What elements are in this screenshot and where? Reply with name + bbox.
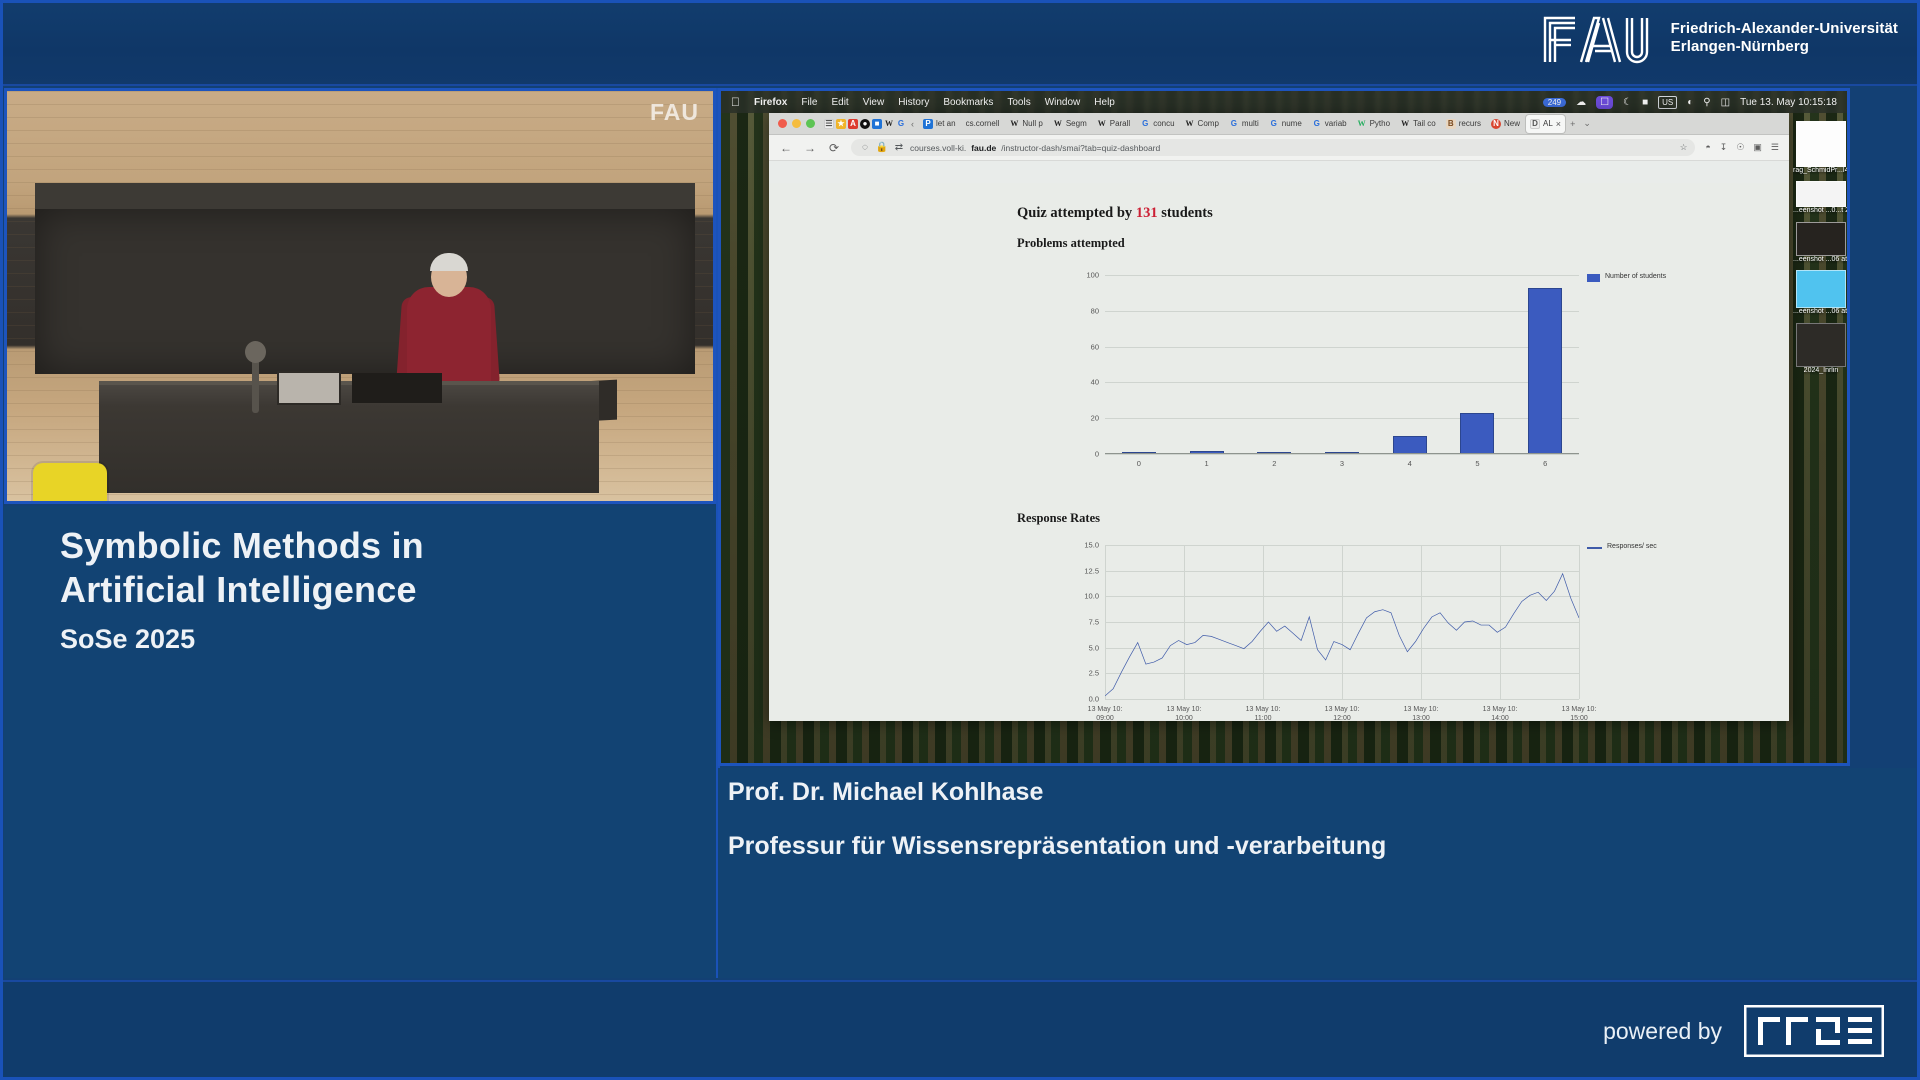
bar-chart-legend: Number of students — [1587, 273, 1687, 282]
quiz-student-count: 131 — [1136, 205, 1158, 221]
y-tick-label: 80 — [1091, 306, 1099, 315]
tab-parall[interactable]: WParall — [1093, 115, 1134, 133]
bar-column: 3 — [1308, 275, 1376, 454]
bar[interactable] — [1528, 288, 1562, 454]
tab-favicon: N — [1491, 119, 1501, 129]
legend-label: Responses/ sec — [1607, 543, 1657, 550]
y-tick-label: 5.0 — [1089, 643, 1099, 652]
tab-favicon: W — [1097, 119, 1107, 129]
search-icon[interactable]: ⚲ — [1703, 97, 1710, 108]
close-tab-icon[interactable]: × — [1556, 119, 1561, 129]
y-tick-label: 15.0 — [1084, 541, 1099, 550]
x-tick-label: 3 — [1340, 459, 1344, 468]
legend-label: Number of students — [1605, 273, 1666, 280]
speaker-block: Prof. Dr. Michael Kohlhase Professur für… — [718, 768, 1916, 978]
tab-null-p[interactable]: WNull p — [1005, 115, 1046, 133]
screen-share[interactable]:  Firefox File Edit View History Bookmar… — [718, 88, 1850, 766]
cloud-sync-icon[interactable]: ☁ — [1576, 97, 1586, 108]
back-button[interactable]: ← — [779, 141, 793, 155]
window-traffic-lights[interactable] — [773, 119, 822, 128]
lecturer-video[interactable]: FAU — [4, 88, 716, 504]
tab-label: nume — [1282, 119, 1302, 128]
url-host: fau.de — [971, 143, 996, 153]
tab-pytho[interactable]: WPytho — [1353, 115, 1394, 133]
tab-favicon: G — [1312, 119, 1322, 129]
video-watermark: FAU — [650, 99, 699, 126]
pinned-tab-4-icon[interactable]: ■ — [872, 119, 882, 129]
blackboard — [35, 209, 695, 374]
desktop-icon-pdf[interactable]: rag_SchmidPr...I4AI.pdf — [1795, 121, 1847, 175]
tab-favicon: W — [1009, 119, 1019, 129]
line-chart-plot: 0.02.55.07.510.012.515.013 May 10:09:001… — [1105, 545, 1579, 699]
bar[interactable] — [1393, 436, 1427, 454]
y-tick-label: 0.0 — [1089, 695, 1099, 704]
chevron-down-icon[interactable]: ⌄ — [1580, 118, 1594, 129]
y-tick-label: 2.5 — [1089, 669, 1099, 678]
gridline — [1579, 545, 1580, 699]
tab-new[interactable]: NNew — [1487, 115, 1524, 133]
tab-label: Null p — [1022, 119, 1042, 128]
tab-cs-cornell[interactable]: cs.cornell — [962, 115, 1004, 133]
tab-recurs[interactable]: Brecurs — [1442, 115, 1485, 133]
menu-icon[interactable]: ☰ — [1771, 142, 1779, 153]
course-title: Symbolic Methods in Artificial Intellige… — [60, 524, 660, 612]
input-source-indicator[interactable]: US — [1658, 96, 1677, 109]
y-tick-label: 100 — [1086, 271, 1099, 280]
url-path: /instructor-dash/smai?tab=quiz-dashboard — [1001, 143, 1160, 153]
x-tick-label: 1 — [1204, 459, 1208, 468]
tab-label: New — [1504, 119, 1520, 128]
menu-history[interactable]: History — [898, 97, 929, 108]
screen-share-icon[interactable]: ☐ — [1596, 96, 1613, 109]
bar-column: 4 — [1376, 275, 1444, 454]
bar-chart-plot: 020406080100 0123456 — [1105, 275, 1579, 454]
address-bar[interactable]: ◌ 🔒 ⇄ courses.voll-ki.fau.de/instructor-… — [851, 139, 1695, 156]
line-chart-series — [1105, 545, 1579, 699]
firefox-window[interactable]: ☰ ★ A ● ■ W G ‹ Plet an cs.cornell WNull… — [769, 113, 1789, 721]
tab-comp[interactable]: WComp — [1181, 115, 1223, 133]
gridline — [1105, 454, 1579, 455]
pinned-tab-1-icon[interactable]: ★ — [836, 119, 846, 129]
legend-swatch — [1587, 274, 1600, 282]
university-line-1: Friedrich-Alexander-Universität — [1671, 20, 1898, 38]
tab-al-active[interactable]: DAL× — [1526, 115, 1565, 133]
quiz-heading-prefix: Quiz attempted by — [1017, 205, 1136, 221]
bar-chart-x-axis — [1105, 453, 1579, 454]
maximize-window-button[interactable] — [806, 119, 815, 128]
reload-button[interactable]: ⟳ — [827, 141, 841, 155]
document-thumbnail — [1796, 121, 1846, 167]
bar-column: 1 — [1173, 275, 1241, 454]
top-banner: Friedrich-Alexander-Universität Erlangen… — [0, 0, 1920, 86]
pinned-tab-5-icon[interactable]: W — [884, 119, 894, 129]
rrze-logo-icon — [1744, 1005, 1884, 1057]
tab-label: concu — [1153, 119, 1174, 128]
x-tick-label: 5 — [1475, 459, 1479, 468]
course-title-line-2: Artificial Intelligence — [60, 568, 660, 612]
tab-label: AL — [1543, 119, 1553, 128]
tab-label: recurs — [1459, 119, 1481, 128]
menu-view[interactable]: View — [863, 97, 885, 108]
menu-bookmarks[interactable]: Bookmarks — [943, 97, 993, 108]
menu-tools[interactable]: Tools — [1007, 97, 1030, 108]
x-tick-label: 6 — [1543, 459, 1547, 468]
chair — [33, 463, 107, 504]
y-tick-label: 20 — [1091, 414, 1099, 423]
blue-thumbnail — [1796, 323, 1846, 367]
tab-favicon: P — [923, 119, 933, 129]
response-rates-title: Response Rates — [1017, 511, 1100, 526]
pinned-tab-2-icon[interactable]: A — [848, 119, 858, 129]
x-tick-label: 13 May 10:10:00 — [1167, 705, 1202, 721]
bar-column: 2 — [1240, 275, 1308, 454]
tab-favicon: W — [1357, 119, 1367, 129]
x-tick-label: 2 — [1272, 459, 1276, 468]
url-prefix: courses.voll-ki. — [910, 143, 966, 153]
bar-column: 0 — [1105, 275, 1173, 454]
desktop-icon-label: ...eenshot ...06 at 14.36.55 — [1793, 256, 1849, 264]
tab-strip[interactable]: ☰ ★ A ● ■ W G ‹ Plet an cs.cornell WNull… — [769, 113, 1789, 135]
desktop-icon-screenshot-2[interactable]: ...eenshot ...06 at 14.36.55 — [1795, 222, 1847, 264]
x-tick-label: 13 May 10:13:00 — [1404, 705, 1439, 721]
desktop-icon-folder[interactable]: 2024_Inrlin — [1795, 323, 1847, 375]
desktop-icon-label: 2024_Inrlin — [1793, 367, 1849, 375]
tab-multi[interactable]: Gmulti — [1225, 115, 1263, 133]
x-tick-label: 0 — [1137, 459, 1141, 468]
gridline — [1105, 699, 1579, 700]
x-tick-label: 13 May 10:15:00 — [1562, 705, 1597, 721]
desktop-icon-label: ...eenshot ...0...t 20.33.48 — [1793, 207, 1849, 215]
tab-label: let an — [936, 119, 956, 128]
tab-scroll-left-icon[interactable]: ‹ — [908, 119, 917, 129]
university-name: Friedrich-Alexander-Universität Erlangen… — [1671, 20, 1898, 57]
navigation-toolbar[interactable]: ← → ⟳ ◌ 🔒 ⇄ courses.voll-ki.fau.de/instr… — [769, 135, 1789, 161]
bar-chart-bars: 0123456 — [1105, 275, 1579, 454]
microphone-icon — [245, 341, 266, 363]
tab-favicon: G — [1140, 119, 1150, 129]
x-tick-label: 13 May 10:14:00 — [1483, 705, 1518, 721]
extensions-icon[interactable]: ▣ — [1753, 142, 1762, 153]
speaker-role: Professur für Wissensrepräsentation und … — [728, 832, 1386, 861]
y-tick-label: 7.5 — [1089, 618, 1099, 627]
fau-branding: Friedrich-Alexander-Universität Erlangen… — [1541, 10, 1898, 66]
shield-icon[interactable]: ◓ — [1705, 142, 1710, 153]
lecture-hall-scene — [7, 91, 713, 501]
menu-edit[interactable]: Edit — [831, 97, 848, 108]
university-line-2: Erlangen-Nürnberg — [1671, 38, 1898, 56]
tab-nume[interactable]: Gnume — [1265, 115, 1306, 133]
lectern — [99, 381, 599, 493]
menu-window[interactable]: Window — [1045, 97, 1081, 108]
wifi-icon[interactable]: ◐ — [1687, 97, 1693, 108]
tab-concu[interactable]: Gconcu — [1136, 115, 1178, 133]
tab-label: multi — [1242, 119, 1259, 128]
menu-firefox[interactable]: Firefox — [754, 97, 787, 108]
tab-favicon: W — [1400, 119, 1410, 129]
tab-label: Comp — [1198, 119, 1219, 128]
quiz-attempted-heading: Quiz attempted by 131 students — [1017, 205, 1213, 222]
x-tick-label: 13 May 10:12:00 — [1325, 705, 1360, 721]
y-tick-label: 12.5 — [1084, 566, 1099, 575]
presentation-stage: Friedrich-Alexander-Universität Erlangen… — [0, 0, 1920, 1080]
tab-label: Tail co — [1413, 119, 1436, 128]
window-thumbnail — [1796, 181, 1846, 207]
tab-variab[interactable]: Gvariab — [1308, 115, 1351, 133]
tab-let-an[interactable]: Plet an — [919, 115, 960, 133]
course-title-line-1: Symbolic Methods in — [60, 524, 660, 568]
desktop-icon-label: ...eenshot ...06 at 15.25.00 — [1793, 308, 1849, 316]
fau-logo-icon — [1541, 10, 1657, 66]
forward-button[interactable]: → — [803, 141, 817, 155]
slide-thumbnail — [1796, 270, 1846, 308]
x-tick-label: 4 — [1408, 459, 1412, 468]
podium-monitor — [277, 371, 341, 405]
quiz-dashboard-page[interactable]: Quiz attempted by 131 students Problems … — [769, 183, 1789, 721]
desktop-icons[interactable]: rag_SchmidPr...I4AI.pdf ...eenshot ...0.… — [1789, 91, 1847, 763]
control-center-icon[interactable]: ◫ — [1721, 97, 1730, 108]
legend-line-swatch — [1587, 547, 1602, 549]
y-tick-label: 60 — [1091, 342, 1099, 351]
bookmark-star-icon[interactable]: ☆ — [1680, 142, 1688, 153]
y-tick-label: 40 — [1091, 378, 1099, 387]
desktop-icon-label: rag_SchmidPr...I4AI.pdf — [1793, 167, 1849, 175]
notification-badge[interactable]: 249 — [1543, 98, 1566, 107]
y-tick-label: 10.0 — [1084, 592, 1099, 601]
toolbar-actions[interactable]: ◓ ↧ ☉ ▣ ☰ — [1705, 142, 1779, 153]
tab-favicon: G — [1229, 119, 1239, 129]
tab-label: variab — [1325, 119, 1347, 128]
quiz-heading-suffix: students — [1158, 205, 1213, 221]
x-tick-label: 13 May 10:11:00 — [1246, 705, 1281, 721]
tab-tail-co[interactable]: WTail co — [1396, 115, 1440, 133]
x-tick-label: 13 May 10:09:00 — [1088, 705, 1123, 721]
tab-label: Segm — [1066, 119, 1087, 128]
response-rates-chart[interactable]: 0.02.55.07.510.012.515.013 May 10:09:001… — [1039, 535, 1699, 721]
powered-by-label: powered by — [1603, 1018, 1722, 1045]
moon-icon[interactable]: ☾ — [1623, 97, 1632, 108]
download-icon[interactable]: ↧ — [1720, 142, 1728, 153]
tab-favicon: G — [1269, 119, 1279, 129]
line-chart-legend: Responses/ sec — [1587, 543, 1687, 550]
bar[interactable] — [1460, 413, 1494, 454]
menu-file[interactable]: File — [801, 97, 817, 108]
tab-segm[interactable]: WSegm — [1049, 115, 1091, 133]
minimize-window-button[interactable] — [792, 119, 801, 128]
battery-icon[interactable]: ■ — [1642, 97, 1648, 108]
dark-thumbnail — [1796, 222, 1846, 256]
tab-label: Parall — [1110, 119, 1130, 128]
tab-favicon: D — [1530, 119, 1540, 129]
y-tick-label: 0 — [1095, 450, 1099, 459]
tab-favicon: W — [1053, 119, 1063, 129]
desktop-icon-screenshot-3[interactable]: ...eenshot ...06 at 15.25.00 — [1795, 270, 1847, 316]
footer-bar: powered by — [0, 980, 1920, 1080]
reader-icon[interactable]: ⇄ — [893, 142, 905, 154]
bar-column: 6 — [1511, 275, 1579, 454]
tab-favicon: B — [1446, 119, 1456, 129]
tab-label: cs.cornell — [966, 119, 1000, 128]
macos-menu-bar[interactable]:  Firefox File Edit View History Bookmar… — [721, 91, 1847, 113]
course-title-block: Symbolic Methods in Artificial Intellige… — [4, 506, 716, 978]
tab-label: Pytho — [1370, 119, 1390, 128]
pinned-tab-3-icon[interactable]: ● — [860, 119, 870, 129]
close-window-button[interactable] — [778, 119, 787, 128]
problems-attempted-title: Problems attempted — [1017, 236, 1125, 251]
account-icon[interactable]: ☉ — [1736, 142, 1744, 153]
desktop-icon-screenshot-1[interactable]: ...eenshot ...0...t 20.33.48 — [1795, 181, 1847, 215]
tab-favicon: W — [1185, 119, 1195, 129]
bar-column: 5 — [1444, 275, 1512, 454]
lock-icon[interactable]: 🔒 — [876, 142, 888, 154]
pinned-tab-6-icon[interactable]: G — [896, 119, 906, 129]
apple-icon[interactable]:  — [731, 95, 740, 109]
shield-icon[interactable]: ◌ — [859, 142, 871, 154]
speaker-name: Prof. Dr. Michael Kohlhase — [728, 778, 1043, 807]
problems-attempted-chart[interactable]: 020406080100 0123456 Number of students — [1039, 263, 1699, 488]
new-tab-button[interactable]: + — [1567, 119, 1578, 129]
course-term: SoSe 2025 — [60, 624, 195, 655]
menu-help[interactable]: Help — [1094, 97, 1115, 108]
list-all-tabs-icon[interactable]: ☰ — [824, 119, 834, 129]
